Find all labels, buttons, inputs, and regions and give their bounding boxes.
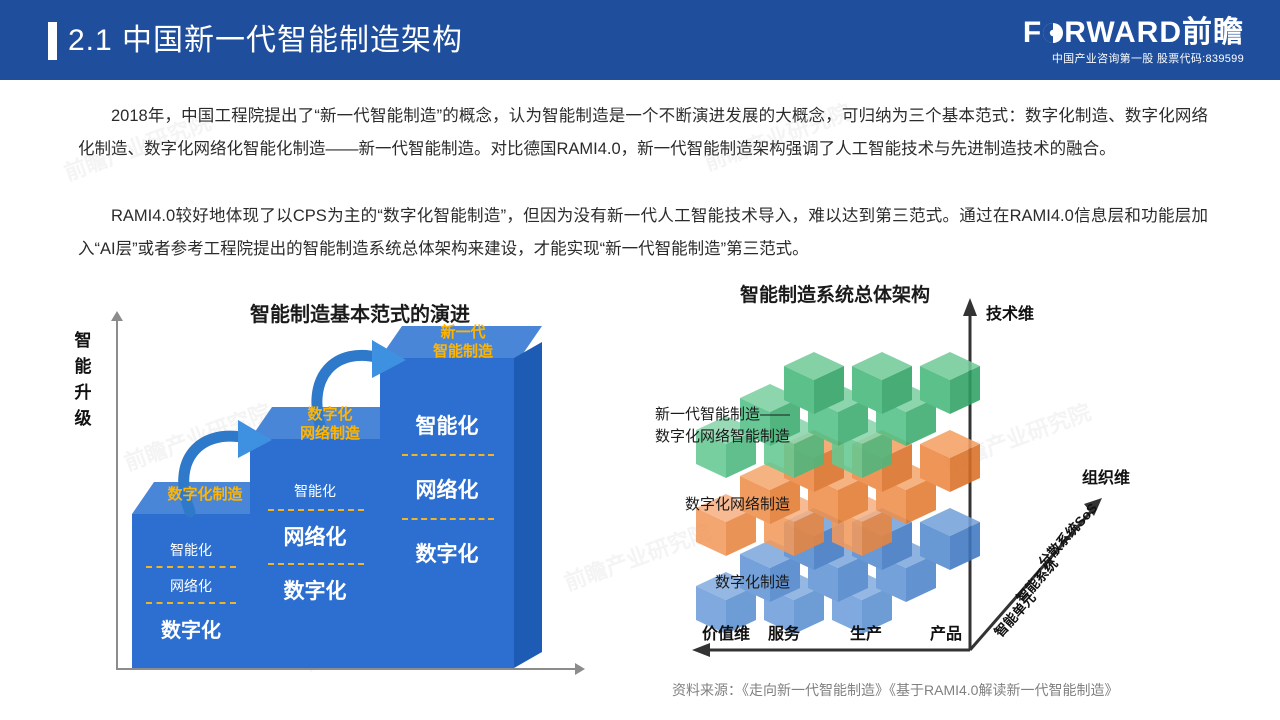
step-3-caption-line-1: 新一代 [392, 323, 534, 342]
step-1-divider-1 [146, 566, 236, 568]
layer-label-blue: 数字化制造 [590, 572, 790, 594]
logo-text-rest: RWARD前瞻 [1064, 16, 1244, 49]
step-block-1: 数字化制造 智能化 网络化 数字化 [132, 498, 250, 668]
step-3-row-2: 网络化 [380, 474, 514, 504]
step-1-caption: 数字化制造 [140, 485, 270, 504]
step-2-divider-2 [268, 563, 364, 565]
left-chart-x-axis [116, 668, 576, 670]
value-tick-3: 产品 [930, 620, 962, 644]
paragraph-2: RAMI4.0较好地体现了以CPS为主的“数字化智能制造”，但因为没有新一代人工… [78, 200, 1208, 266]
header-accent-bar [48, 22, 57, 60]
layer-label-green-line-1: 新一代智能制造—— [590, 404, 790, 426]
y-axis-char: 智 [70, 328, 96, 354]
step-2-front-face [250, 439, 380, 668]
step-3-caption-line-2: 智能制造 [392, 342, 534, 361]
step-3-row-1: 智能化 [380, 410, 514, 440]
cube-stack [600, 272, 1260, 672]
page-title: 2.1 中国新一代智能制造架构 [68, 20, 463, 62]
y-axis-char: 升 [70, 380, 96, 406]
step-1-row-3: 数字化 [132, 614, 250, 643]
step-2-row-3: 数字化 [250, 575, 380, 605]
step-2-row-2: 网络化 [250, 521, 380, 551]
step-2-caption: 数字化 网络制造 [260, 405, 400, 443]
layer-label-orange: 数字化网络制造 [590, 494, 790, 516]
value-tick-1: 服务 [768, 620, 800, 644]
step-2-divider-1 [268, 509, 364, 511]
step-1-divider-2 [146, 602, 236, 604]
org-axis-label: 组织维 [1082, 464, 1130, 488]
layer-label-green: 新一代智能制造—— 数字化网络智能制造 [590, 404, 790, 448]
value-tick-2: 生产 [850, 620, 882, 644]
step-2-caption-line-2: 网络制造 [260, 424, 400, 443]
step-3-front-face [380, 358, 514, 668]
step-3-divider-2 [402, 518, 494, 520]
step-1-row-1: 智能化 [132, 540, 250, 560]
layer-label-green-line-2: 数字化网络智能制造 [590, 426, 790, 448]
step-3-divider-1 [402, 454, 494, 456]
logo-subtitle: 中国产业咨询第一股 股票代码:839599 [1023, 51, 1244, 67]
paragraph-1: 2018年，中国工程院提出了“新一代智能制造”的概念，认为智能制造是一个不断演进… [78, 100, 1208, 166]
step-block-3: 新一代 智能制造 智能化 网络化 数字化 [380, 342, 514, 668]
logo-text-f: F [1023, 16, 1042, 49]
logo-globe-icon [1042, 21, 1064, 45]
step-3-caption: 新一代 智能制造 [392, 323, 534, 361]
left-chart-y-axis-label: 智 能 升 级 [70, 328, 96, 432]
step-2-caption-line-1: 数字化 [260, 405, 400, 424]
right-chart: 智能制造系统总体架构 [600, 272, 1260, 672]
brand-logo: FRWARD前瞻 中国产业咨询第一股 股票代码:839599 [1023, 16, 1244, 67]
y-axis-char: 能 [70, 354, 96, 380]
left-chart: 智能制造基本范式的演进 智 能 升 级 数字化制造 智能化 网络化 数字化 数字… [60, 280, 660, 680]
y-axis-char: 级 [70, 406, 96, 432]
step-block-2: 数字化 网络制造 智能化 网络化 数字化 [250, 423, 380, 668]
page-header: 2.1 中国新一代智能制造架构 FRWARD前瞻 中国产业咨询第一股 股票代码:… [0, 0, 1280, 80]
left-chart-y-axis [116, 320, 118, 670]
step-1-row-2: 网络化 [132, 576, 250, 596]
value-axis-label: 价值维 [702, 620, 750, 644]
step-3-side-face [514, 342, 544, 668]
step-3-row-3: 数字化 [380, 538, 514, 568]
logo-wordmark: FRWARD前瞻 [1023, 16, 1244, 50]
source-note: 资料来源：《走向新一代智能制造》《基于RAMI4.0解读新一代智能制造》 [672, 680, 1118, 700]
tech-axis-label: 技术维 [986, 300, 1034, 324]
